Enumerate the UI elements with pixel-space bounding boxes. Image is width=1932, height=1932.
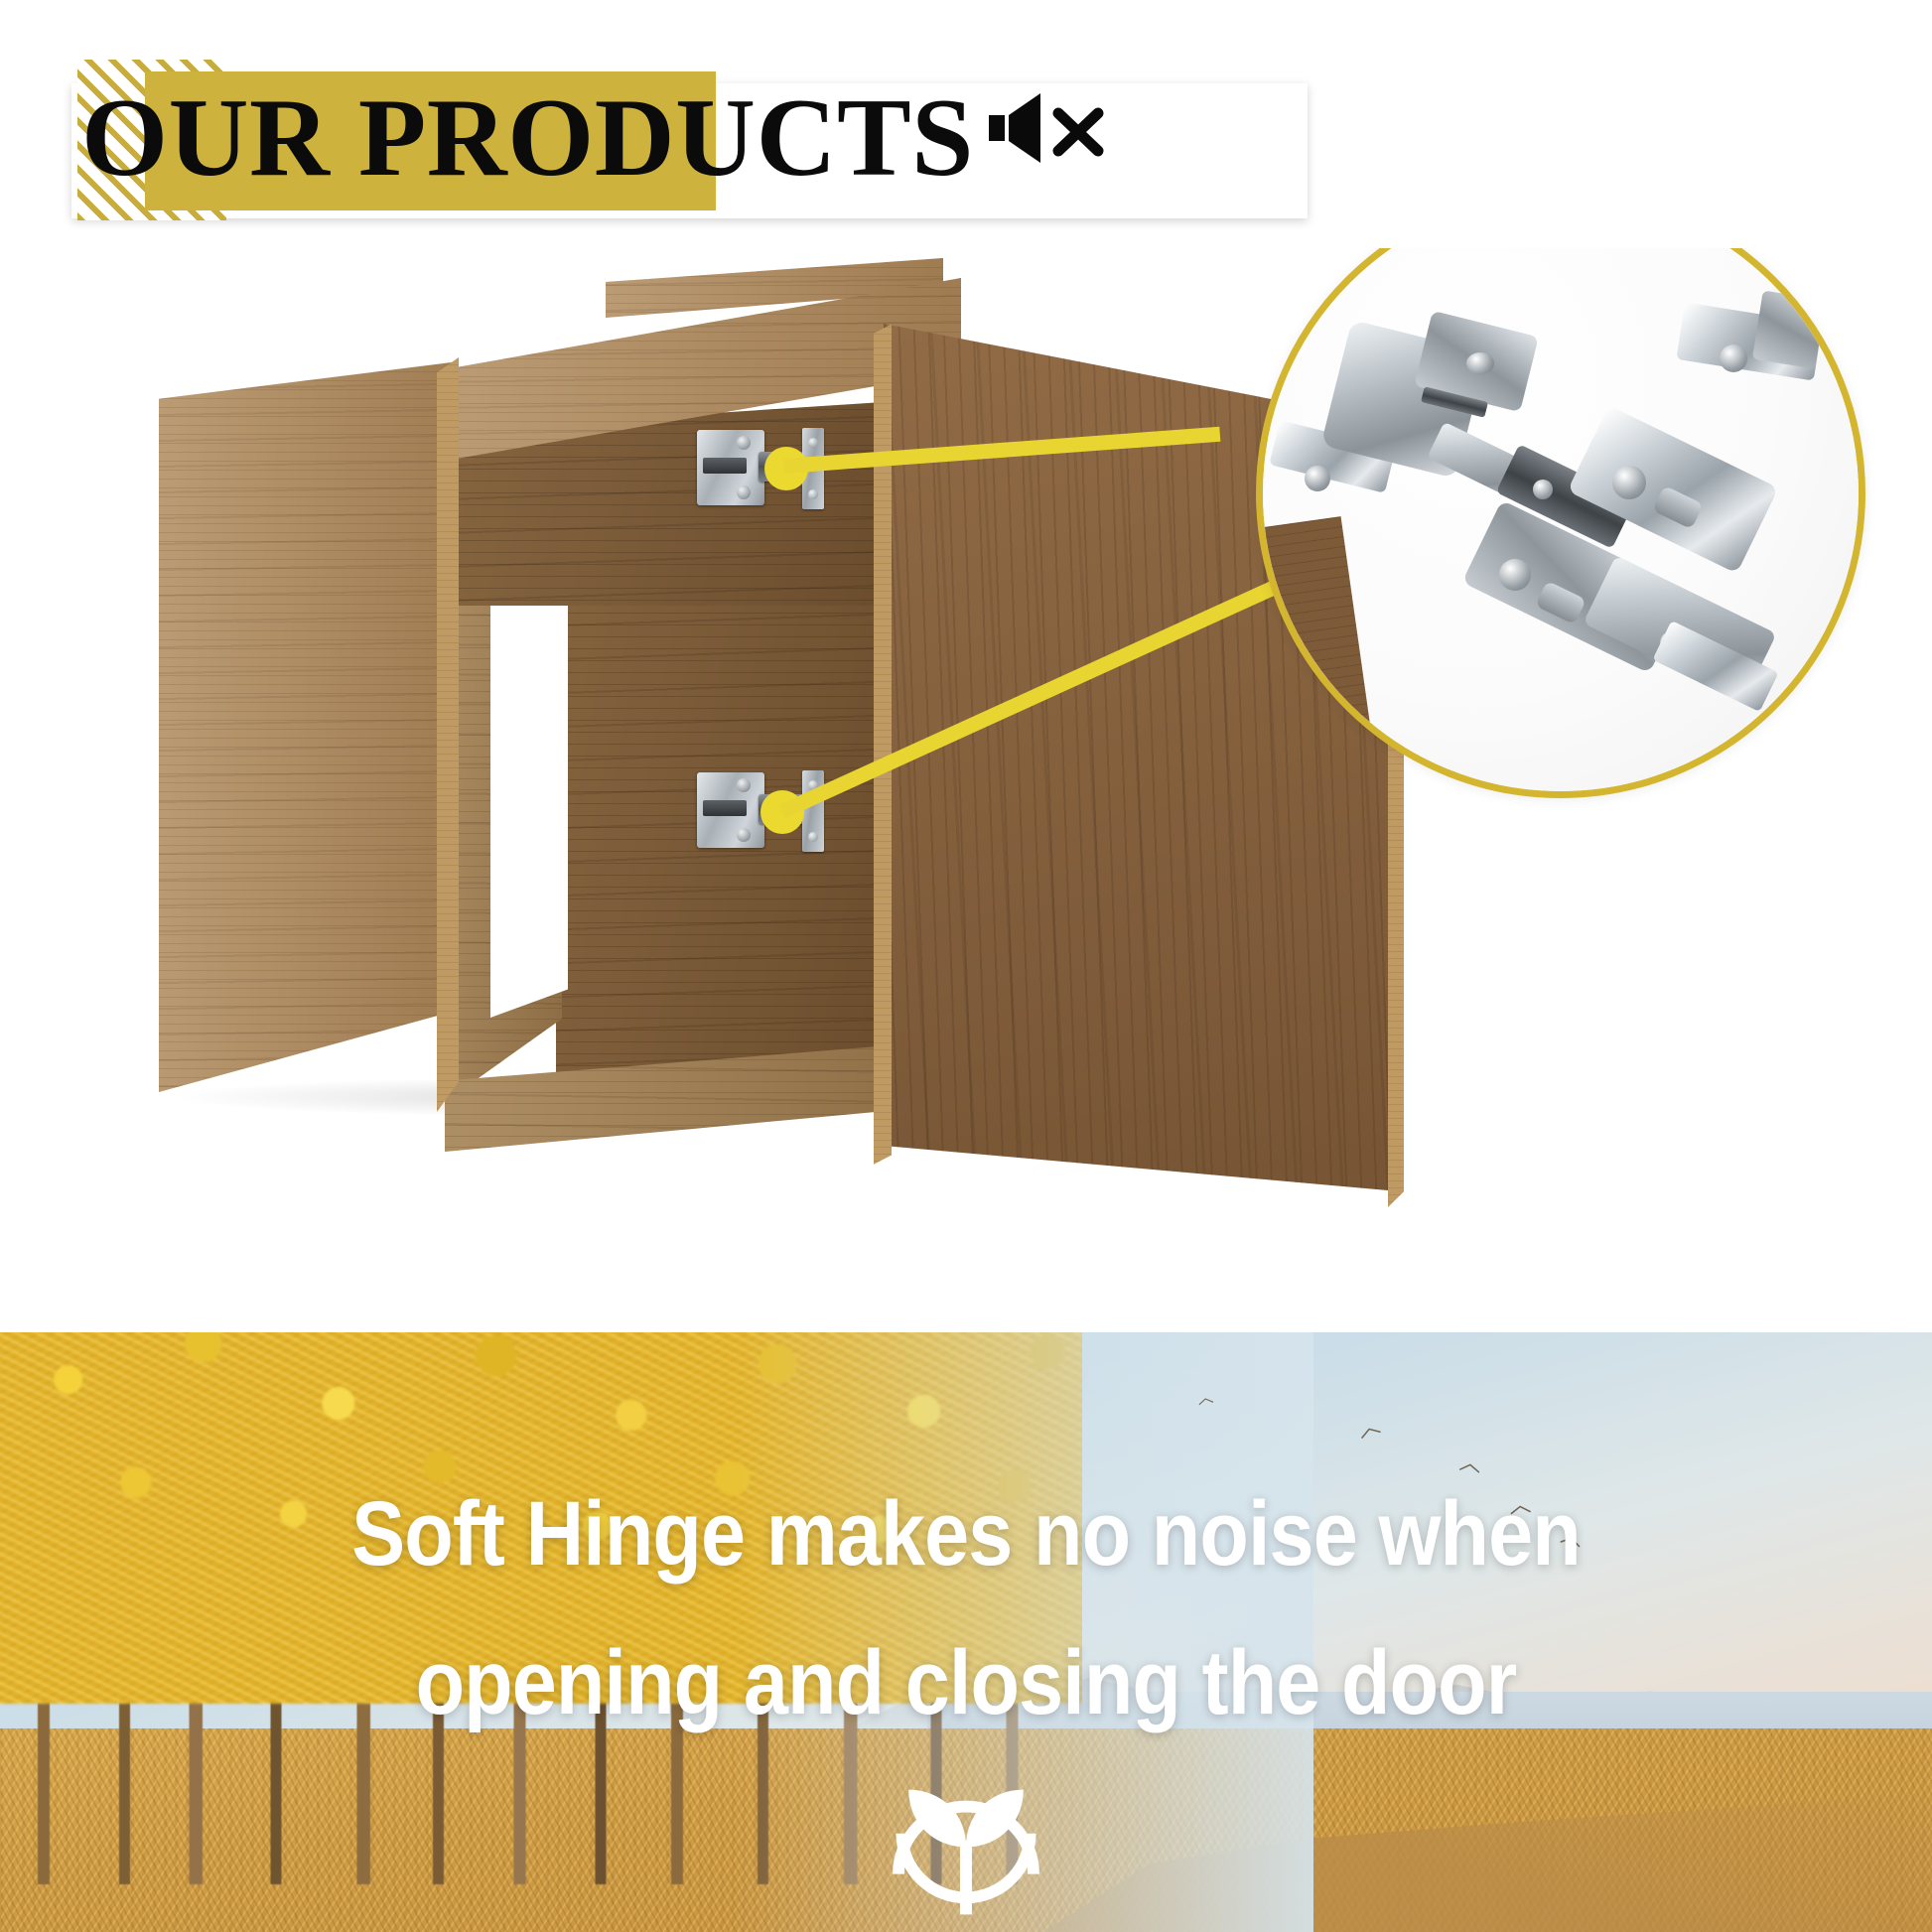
hinge-second-plate-wing (1752, 290, 1826, 368)
product-photo (0, 248, 1932, 1330)
hinge-arm-slot-lower (703, 800, 747, 816)
hinge-cup-rivet (1466, 352, 1494, 374)
eco-sprout-logo (882, 1759, 1050, 1928)
banner-caption-line-2: opening and closing the door (116, 1608, 1816, 1757)
cabinet-front-edge (437, 357, 459, 1112)
hinge-mounting-plate-lower (802, 770, 824, 852)
hinge-arm-rivet (1499, 559, 1531, 591)
hinge-screw-lower-bottom (737, 828, 751, 842)
hinge-arm-slot-upper (703, 458, 747, 474)
hinge-plate-rivet-1 (1612, 466, 1646, 499)
hinge-pivot-pin (1533, 480, 1553, 499)
hinge-cup-upper (697, 430, 764, 505)
hinge-screw-upper-top (737, 436, 751, 450)
cabinet-door-hinge-edge (874, 278, 892, 1201)
hinge-left-wing-rivet (1305, 466, 1330, 491)
product-marketing-page: OUR PRODUCTS (0, 0, 1932, 1932)
hinge-screw-lower-top (737, 778, 751, 792)
hinge-second-plate-rivet (1720, 345, 1747, 372)
page-title: OUR PRODUCTS (81, 63, 974, 213)
mute-speaker-icon[interactable] (983, 85, 1112, 171)
page-header: OUR PRODUCTS (0, 0, 1932, 248)
hinge-detail-illustration (1263, 248, 1859, 791)
hinge-cup-lower (697, 772, 764, 848)
hinge-screw-upper-bottom (737, 485, 751, 499)
cabinet-open-gap (490, 546, 568, 1018)
feature-banner: ︿ ︿ ︿ ︿ ︿ Soft Hinge makes no noise when… (0, 1332, 1932, 1932)
banner-caption-line-1: Soft Hinge makes no noise when (351, 1483, 1581, 1585)
banner-caption: Soft Hinge makes no noise when opening a… (116, 1459, 1816, 1757)
hinge-detail-callout[interactable] (1256, 248, 1865, 798)
cabinet-left-side-panel (159, 362, 452, 1092)
bird-icon-5: ︿ (1196, 1389, 1215, 1408)
